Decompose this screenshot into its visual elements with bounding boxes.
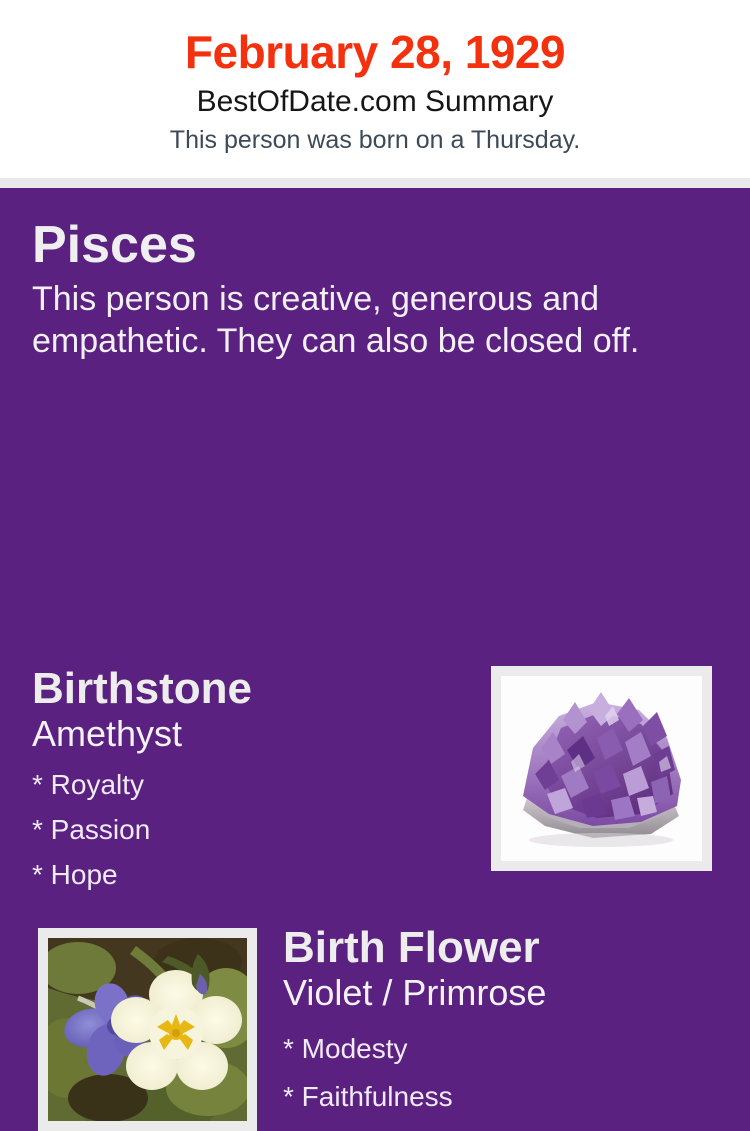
header: February 28, 1929 BestOfDate.com Summary…: [0, 0, 750, 178]
main-content: Pisces This person is creative, generous…: [0, 188, 750, 1000]
divider: [0, 178, 750, 188]
amethyst-photo: [501, 676, 702, 861]
birthstone-name: Amethyst: [32, 712, 472, 756]
violet-and-primrose-icon: [48, 938, 247, 1121]
list-item: * Royalty: [32, 762, 472, 807]
birthday-summary-card: February 28, 1929 BestOfDate.com Summary…: [0, 0, 750, 1000]
list-item: * Faithfulness: [283, 1073, 723, 1121]
amethyst-crystal-cluster-icon: [501, 676, 702, 861]
birthstone-trait-list: * Royalty * Passion * Hope: [32, 762, 472, 897]
weekday-note: This person was born on a Thursday.: [0, 123, 750, 157]
birth-flower-name: Violet / Primrose: [283, 971, 723, 1015]
zodiac-sign-name: Pisces: [32, 216, 720, 274]
zodiac-section: Pisces This person is creative, generous…: [0, 188, 750, 362]
birth-flower-heading: Birth Flower: [283, 923, 723, 973]
site-summary-label: BestOfDate.com Summary: [0, 82, 750, 122]
birthstone-heading: Birthstone: [32, 664, 472, 714]
birth-flower-image-frame: [38, 928, 257, 1131]
birthstone-image-frame: [491, 666, 712, 871]
birth-flower-section: Birth Flower Violet / Primrose * Modesty…: [283, 923, 723, 1121]
birthstone-section: Birthstone Amethyst * Royalty * Passion …: [32, 664, 472, 897]
zodiac-description: This person is creative, generous and em…: [32, 278, 712, 362]
list-item: * Passion: [32, 807, 472, 852]
page-title: February 28, 1929: [0, 26, 750, 78]
birth-flower-trait-list: * Modesty * Faithfulness: [283, 1025, 723, 1121]
list-item: * Hope: [32, 852, 472, 897]
list-item: * Modesty: [283, 1025, 723, 1073]
flower-photo: [48, 938, 247, 1121]
